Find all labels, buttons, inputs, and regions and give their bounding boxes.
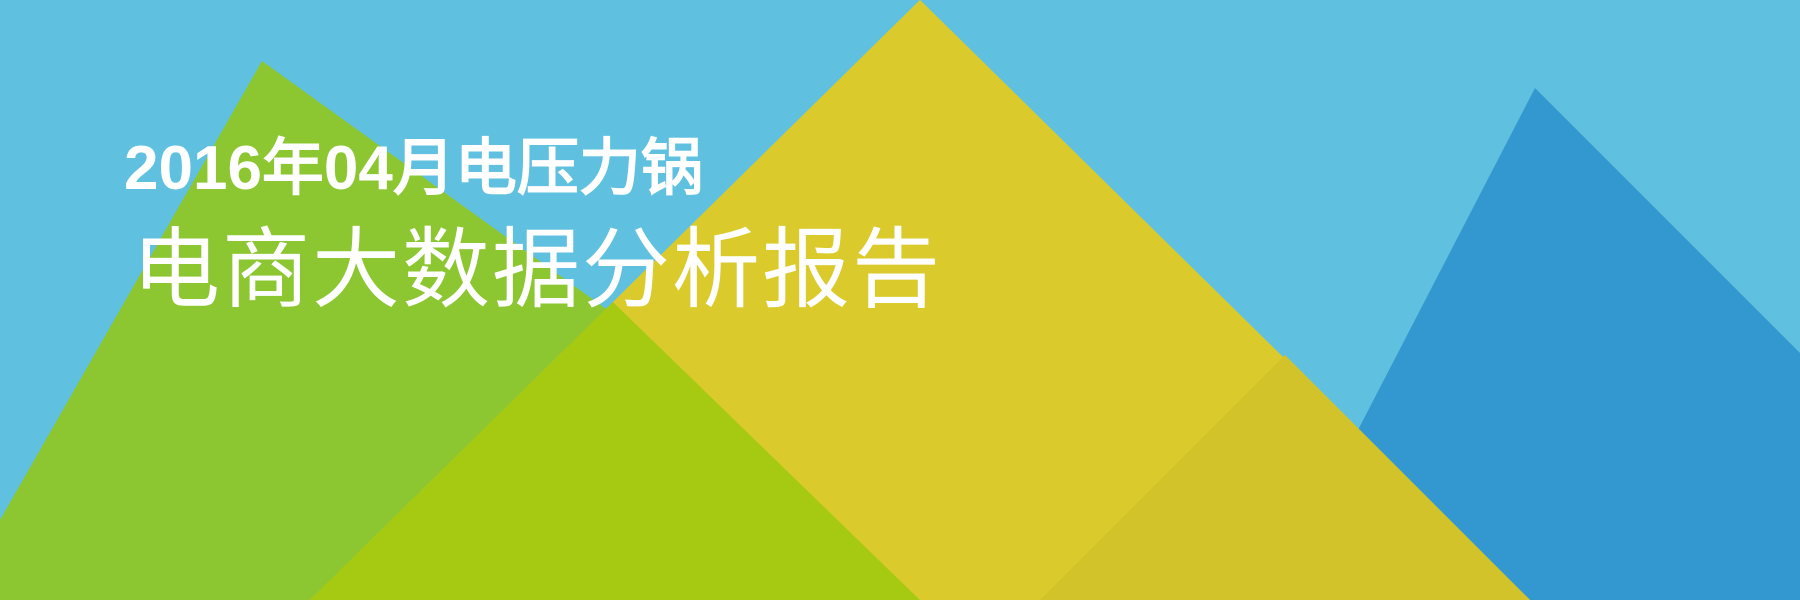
report-cover-banner: 2016年04月电压力锅 电商大数据分析报告 <box>0 0 1800 600</box>
page-title-line-2: 电商大数据分析报告 <box>132 226 942 314</box>
page-title: 2016年04月电压力锅 电商大数据分析报告 <box>124 138 942 314</box>
page-title-line-1: 2016年04月电压力锅 <box>124 138 942 212</box>
